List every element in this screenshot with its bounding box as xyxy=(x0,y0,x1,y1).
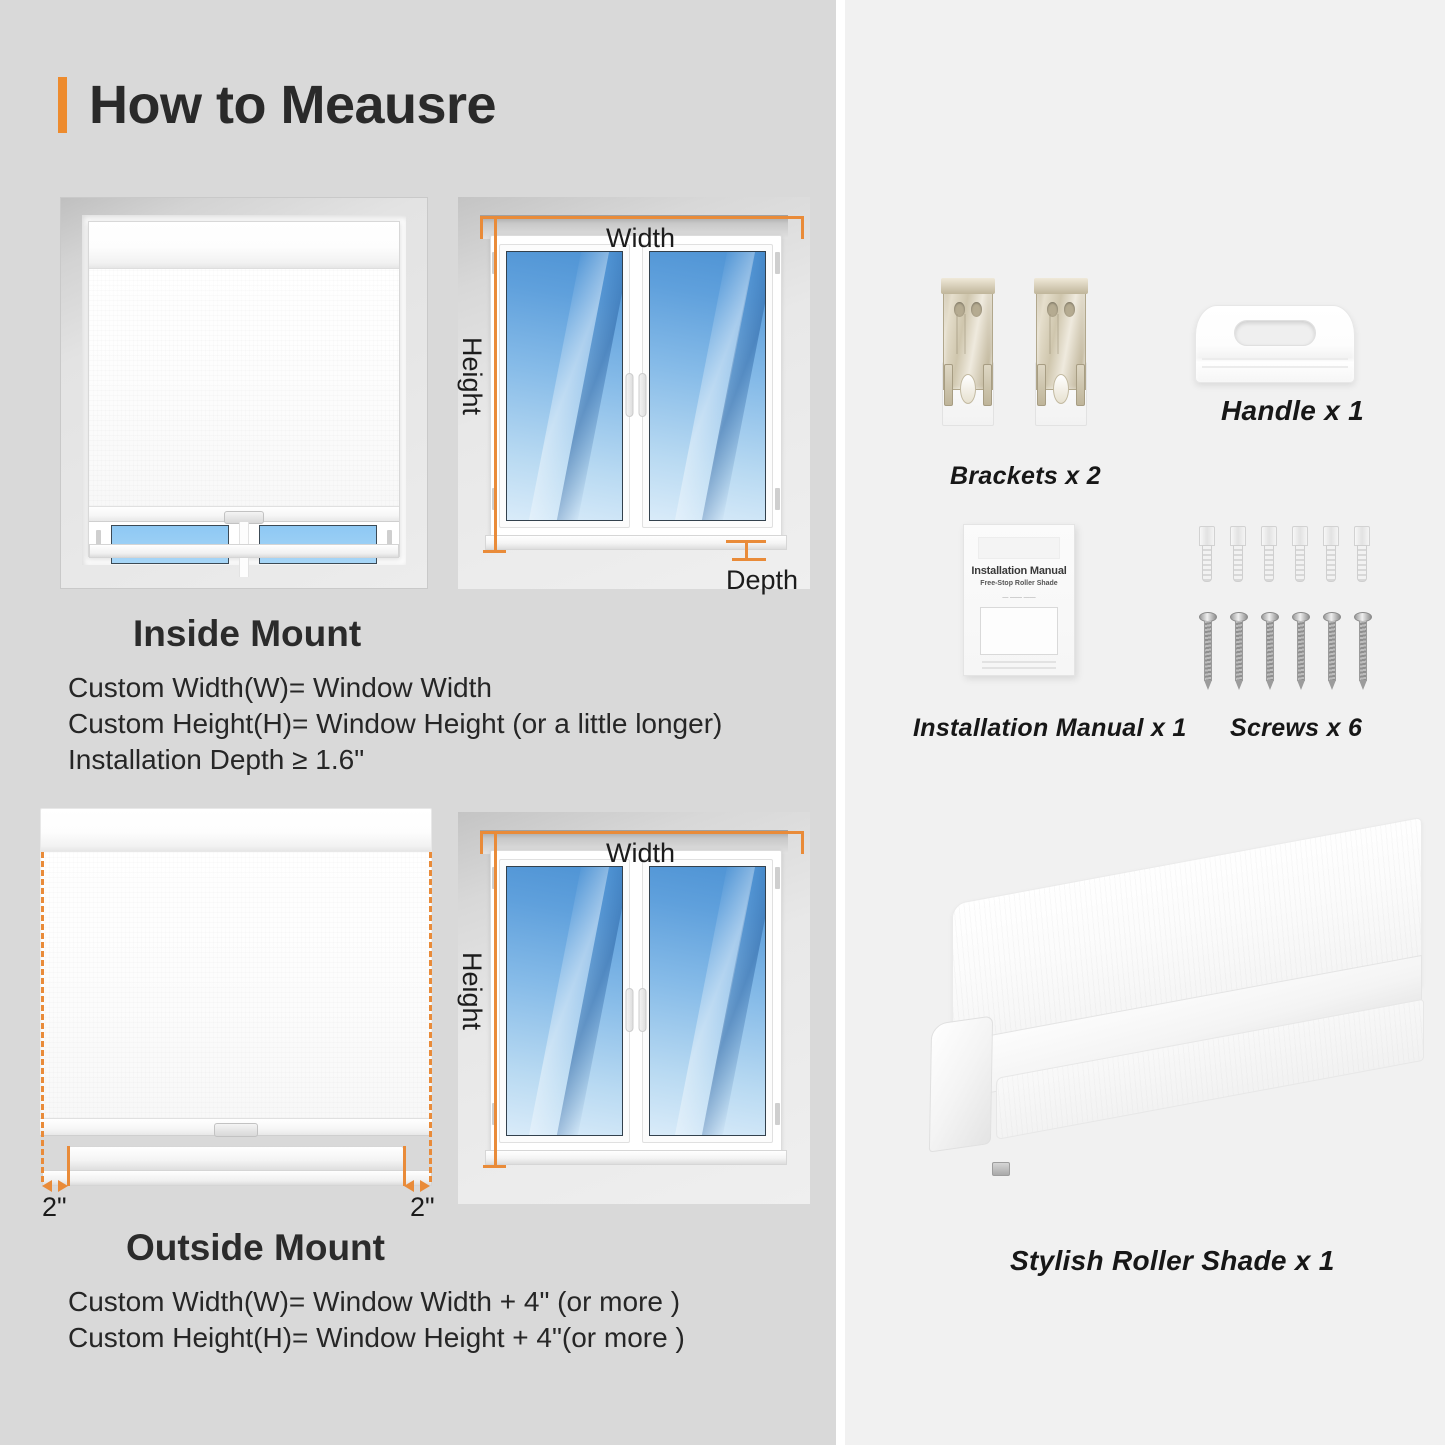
shade-cassette xyxy=(40,808,432,852)
width-dimension-cap-left xyxy=(480,216,483,239)
outside-mount-shade-illustration: 2" 2" xyxy=(24,808,449,1206)
bracket-slot-right xyxy=(983,364,992,406)
shade-assembly xyxy=(40,808,432,1154)
window-glass-right xyxy=(649,866,766,1136)
handle-groove-1 xyxy=(1202,358,1348,360)
window-glass-left xyxy=(506,866,623,1136)
package-contents-panel: What's in the package Brackets x 2 xyxy=(845,0,1445,1445)
screw-6 xyxy=(1356,612,1370,690)
wall-anchor-6 xyxy=(1354,526,1370,582)
inside-mount-line-3: Installation Depth ≥ 1.6" xyxy=(68,742,722,778)
how-to-measure-title: How to Meausre xyxy=(58,74,496,136)
screw-shaft xyxy=(1266,621,1274,681)
overhang-guide-right xyxy=(429,852,432,1182)
shade-pull-tab xyxy=(214,1123,258,1137)
anchor-head xyxy=(1199,526,1215,546)
window-sill xyxy=(89,544,399,558)
anchor-head xyxy=(1230,526,1246,546)
window-sill-board xyxy=(42,1170,432,1186)
window-handle-right xyxy=(639,373,647,417)
height-label: Height xyxy=(456,337,487,415)
anchor-body xyxy=(1357,545,1367,582)
depth-dimension-cap-2 xyxy=(732,558,766,561)
height-dimension-line xyxy=(494,834,497,1168)
overhang-label-left: 2" xyxy=(42,1192,67,1223)
inside-mount-measure-diagram: Width Height Depth xyxy=(458,197,810,589)
handle-grip-cutout xyxy=(1234,320,1316,346)
window-frame xyxy=(88,221,400,557)
anchor-body xyxy=(1295,545,1305,582)
overhang-arrow-right xyxy=(404,1180,430,1192)
manual-title: Installation Manual xyxy=(964,565,1074,577)
screw-shaft xyxy=(1235,621,1243,681)
bracket-item-1 xyxy=(940,278,996,426)
screw-shaft xyxy=(1297,621,1305,681)
bracket-item-2 xyxy=(1033,278,1089,426)
overhang-label-right: 2" xyxy=(410,1192,435,1223)
infographic-page: How to Meausre xyxy=(0,0,1445,1445)
installation-manual-label: Installation Manual x 1 xyxy=(913,714,1187,743)
window-hinge-top-right xyxy=(775,252,780,274)
panel-divider xyxy=(836,0,845,1445)
handle-label: Handle x 1 xyxy=(1221,395,1364,427)
screw-tip xyxy=(1297,680,1305,690)
screw-shaft xyxy=(1204,621,1212,681)
shade-bottom-rail xyxy=(40,1118,432,1136)
window-sash-left xyxy=(499,859,630,1143)
depth-dimension-line xyxy=(745,540,748,560)
window-hinge-bottom-right xyxy=(775,1103,780,1125)
bracket-center-oval xyxy=(1053,374,1069,404)
shade-cassette xyxy=(89,222,399,269)
height-dimension-line xyxy=(494,219,497,553)
anchor-body xyxy=(1233,545,1243,582)
wall-anchor-3 xyxy=(1261,526,1277,582)
screw-5 xyxy=(1325,612,1339,690)
wall-anchor-5 xyxy=(1323,526,1339,582)
screws-label: Screws x 6 xyxy=(1230,714,1362,743)
shade-fabric xyxy=(89,269,399,506)
roller-shade-item xyxy=(900,890,1420,1210)
window-sash-left xyxy=(499,244,630,528)
bracket-center-oval xyxy=(960,374,976,404)
bracket-top-flange xyxy=(941,278,995,294)
screw-shaft xyxy=(1359,621,1367,681)
manual-footer-line-2 xyxy=(982,667,1056,669)
screw-4 xyxy=(1294,612,1308,690)
window-glass-left xyxy=(506,251,623,521)
window-hinge-top-right xyxy=(775,867,780,889)
how-to-measure-panel: How to Meausre xyxy=(0,0,836,1445)
bracket-slot-left xyxy=(944,364,953,406)
outside-mount-measure-diagram: Width Height xyxy=(458,812,810,1204)
width-dimension-cap-left xyxy=(480,831,483,854)
page-title: How to Meausre xyxy=(89,74,496,136)
height-dimension-cap-top xyxy=(483,216,506,219)
shade-fabric xyxy=(40,852,432,1118)
roller-shade-label: Stylish Roller Shade x 1 xyxy=(1010,1245,1335,1277)
roller-shade-end-cap xyxy=(929,1015,993,1152)
screw-3 xyxy=(1263,612,1277,690)
inside-mount-text: Custom Width(W)= Window Width Custom Hei… xyxy=(68,670,722,777)
window-glass-right xyxy=(649,251,766,521)
bracket-slot-right xyxy=(1076,364,1085,406)
window-frame xyxy=(490,850,782,1156)
window-handle-left xyxy=(626,373,634,417)
manual-note: — —— —— xyxy=(964,595,1074,601)
anchor-head xyxy=(1354,526,1370,546)
manual-diagram-box xyxy=(980,607,1058,655)
screw-1 xyxy=(1201,612,1215,690)
anchor-body xyxy=(1264,545,1274,582)
anchor-head xyxy=(1323,526,1339,546)
outside-mount-heading: Outside Mount xyxy=(126,1227,385,1269)
window-sill xyxy=(485,1150,787,1165)
accent-bar-icon xyxy=(58,77,67,133)
anchor-head xyxy=(1292,526,1308,546)
height-label: Height xyxy=(456,952,487,1030)
wall-anchor-4 xyxy=(1292,526,1308,582)
roller-shade-metal-clip xyxy=(992,1162,1010,1176)
width-label: Width xyxy=(606,223,675,254)
screw-2 xyxy=(1232,612,1246,690)
manual-footer-line-1 xyxy=(982,661,1056,663)
width-dimension-cap-right xyxy=(801,831,804,854)
height-dimension-cap-bottom xyxy=(483,550,506,553)
overhang-guide-left xyxy=(41,852,44,1182)
screw-tip xyxy=(1204,680,1212,690)
bracket-top-flange xyxy=(1034,278,1088,294)
height-dimension-cap-bottom xyxy=(483,1165,506,1168)
depth-label: Depth xyxy=(726,565,798,596)
height-dimension-cap-top xyxy=(483,831,506,834)
window-handle-left xyxy=(626,988,634,1032)
inside-mount-heading: Inside Mount xyxy=(133,613,361,655)
wall-anchor-1 xyxy=(1199,526,1215,582)
overhang-arrow-left xyxy=(42,1180,68,1192)
screw-tip xyxy=(1328,680,1336,690)
window-handles xyxy=(626,988,647,1032)
manual-header-band xyxy=(978,537,1060,559)
screw-tip xyxy=(1235,680,1243,690)
width-dimension-line xyxy=(480,831,804,834)
screw-shaft xyxy=(1328,621,1336,681)
screw-tip xyxy=(1266,680,1274,690)
anchor-body xyxy=(1326,545,1336,582)
window-handles xyxy=(626,373,647,417)
width-label: Width xyxy=(606,838,675,869)
brackets-label: Brackets x 2 xyxy=(950,462,1101,491)
handle-groove-2 xyxy=(1202,366,1348,368)
outside-mount-line-2: Custom Height(H)= Window Height + 4"(or … xyxy=(68,1320,685,1356)
installation-manual-item: Installation Manual Free-Stop Roller Sha… xyxy=(963,524,1075,676)
anchor-body xyxy=(1202,545,1212,582)
outside-mount-text: Custom Width(W)= Window Width + 4" (or m… xyxy=(68,1284,685,1356)
handle-item xyxy=(1195,305,1355,383)
width-dimension-line xyxy=(480,216,804,219)
inside-mount-line-1: Custom Width(W)= Window Width xyxy=(68,670,722,706)
bracket-slot-left xyxy=(1037,364,1046,406)
width-dimension-cap-right xyxy=(801,216,804,239)
wall-anchor-2 xyxy=(1230,526,1246,582)
anchor-head xyxy=(1261,526,1277,546)
window-sash-right xyxy=(642,244,773,528)
inside-mount-line-2: Custom Height(H)= Window Height (or a li… xyxy=(68,706,722,742)
window-sash-right xyxy=(642,859,773,1143)
screw-tip xyxy=(1359,680,1367,690)
shade-bottom-rail xyxy=(89,506,399,522)
inside-mount-shade-illustration xyxy=(60,197,428,589)
window-handle-right xyxy=(639,988,647,1032)
window-hinge-bottom-right xyxy=(775,488,780,510)
manual-subtitle: Free-Stop Roller Shade xyxy=(964,580,1074,587)
bracket-ribbing xyxy=(1043,314,1079,354)
window-sill xyxy=(68,1146,404,1172)
window-frame xyxy=(490,235,782,541)
bracket-ribbing xyxy=(950,314,986,354)
outside-mount-line-1: Custom Width(W)= Window Width + 4" (or m… xyxy=(68,1284,685,1320)
